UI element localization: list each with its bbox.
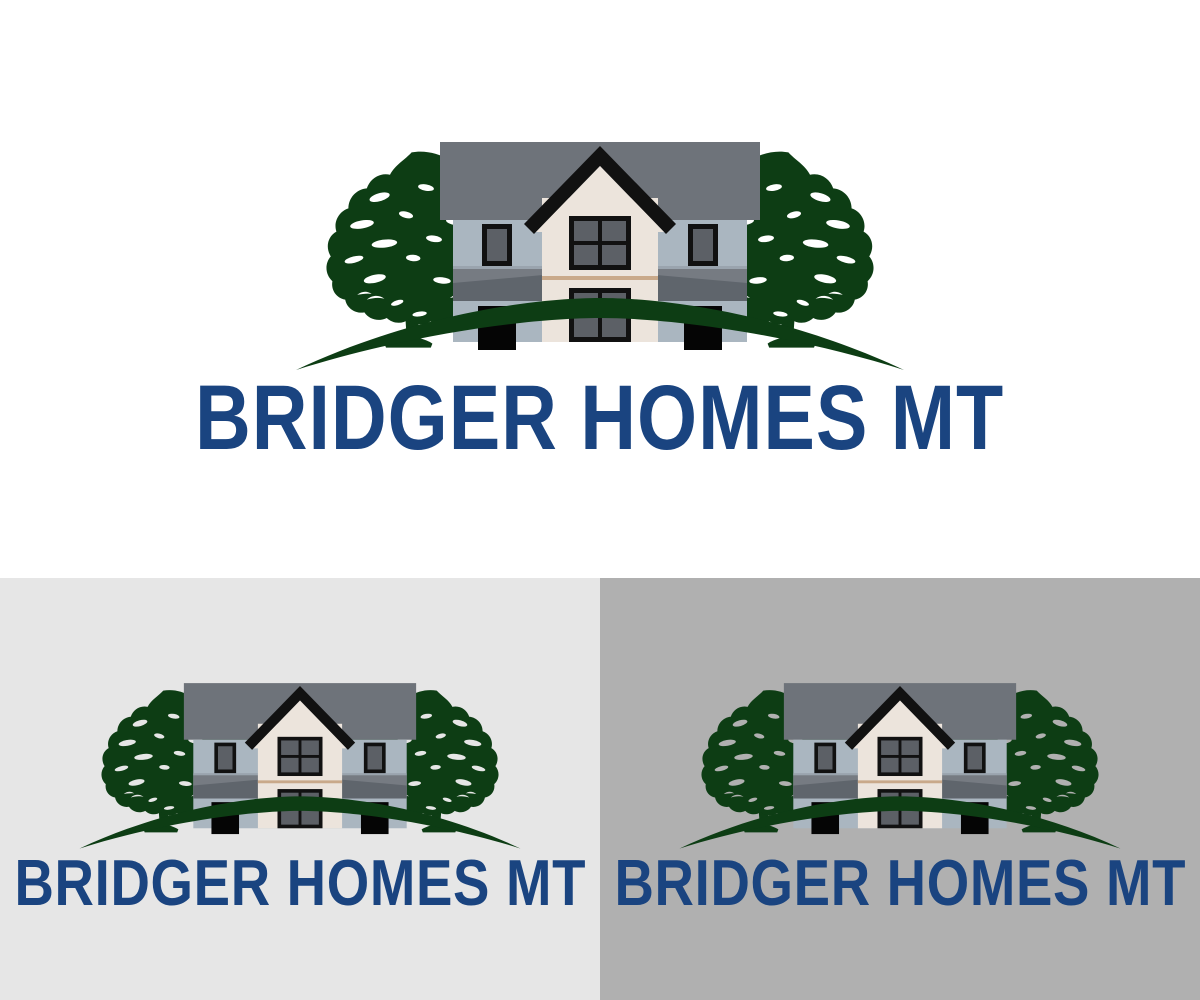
gable-window-upper (878, 737, 923, 776)
panel-full-color-logo-on-white: BRIDGER HOMES MT (0, 0, 1200, 578)
side-window-left (214, 743, 236, 773)
wordmark: BRIDGER HOMES MT (195, 380, 1004, 457)
gable-trim-line (542, 276, 658, 280)
side-window-right (364, 743, 386, 773)
panel-logo-on-mid-gray: BRIDGER HOMES MT (600, 578, 1200, 1000)
side-window-right (964, 743, 986, 773)
gable-trim-line (858, 781, 942, 784)
logo-lockup: BRIDGER HOMES MT (675, 667, 1125, 911)
gable-window-upper (278, 737, 323, 776)
side-window-right (688, 224, 718, 266)
wordmark: BRIDGER HOMES MT (614, 856, 1186, 911)
wordmark: BRIDGER HOMES MT (14, 856, 586, 911)
side-window-left (482, 224, 512, 266)
logo-lockup: BRIDGER HOMES MT (75, 667, 525, 911)
gable-trim-line (258, 781, 342, 784)
logo-lockup: BRIDGER HOMES MT (280, 120, 920, 457)
logo-presentation-board: BRIDGER HOMES MT (0, 0, 1200, 1000)
gable-window-upper (569, 216, 631, 270)
secondary-panel-row: BRIDGER HOMES MT (0, 578, 1200, 1000)
panel-logo-on-light-gray: BRIDGER HOMES MT (0, 578, 600, 1000)
side-window-left (814, 743, 836, 773)
house-and-trees-emblem (290, 120, 910, 380)
house-and-trees-emblem (675, 667, 1125, 856)
house-and-trees-emblem (75, 667, 525, 856)
